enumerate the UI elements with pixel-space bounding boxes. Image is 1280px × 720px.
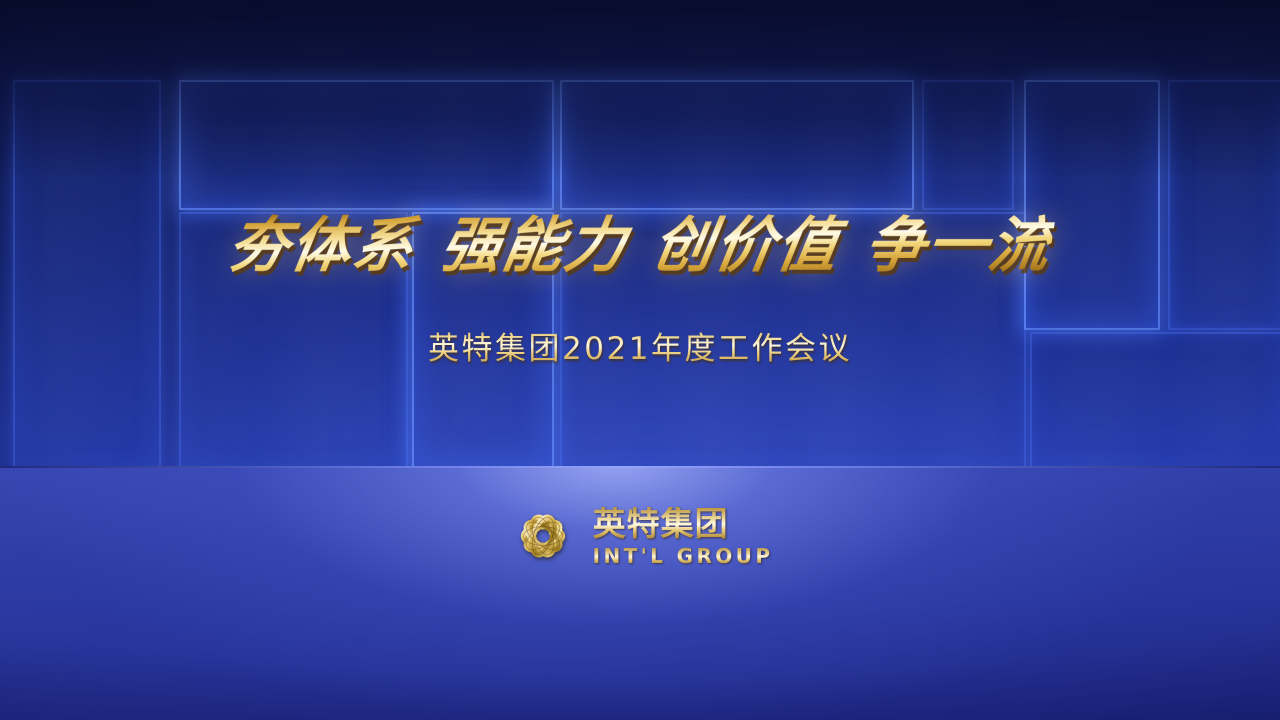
glow-rect-1 <box>179 80 554 210</box>
glow-rect-0 <box>13 80 161 466</box>
glow-rect-5 <box>560 212 1026 466</box>
intl-group-knot-emblem-icon <box>507 500 579 572</box>
upper-backdrop <box>0 0 1280 466</box>
logo-name-en: INT'L GROUP <box>593 546 774 566</box>
panel-seam-divider <box>0 466 1280 468</box>
title-slide: 夯体系强能力创价值争一流 英特集团2021年度工作会议 <box>0 0 1280 720</box>
glow-rect-6 <box>922 80 1014 210</box>
glow-rect-8 <box>1030 332 1280 466</box>
glow-rect-9 <box>1168 80 1280 330</box>
glow-rect-7 <box>1024 80 1160 330</box>
glow-rect-3 <box>412 212 554 466</box>
glow-rect-2 <box>179 212 408 466</box>
glow-rect-4 <box>560 80 914 210</box>
logo-name-cn: 英特集团 <box>593 507 729 540</box>
logo-lockup: 英特集团 INT'L GROUP <box>0 500 1280 572</box>
logo-wordmark: 英特集团 INT'L GROUP <box>593 507 774 566</box>
